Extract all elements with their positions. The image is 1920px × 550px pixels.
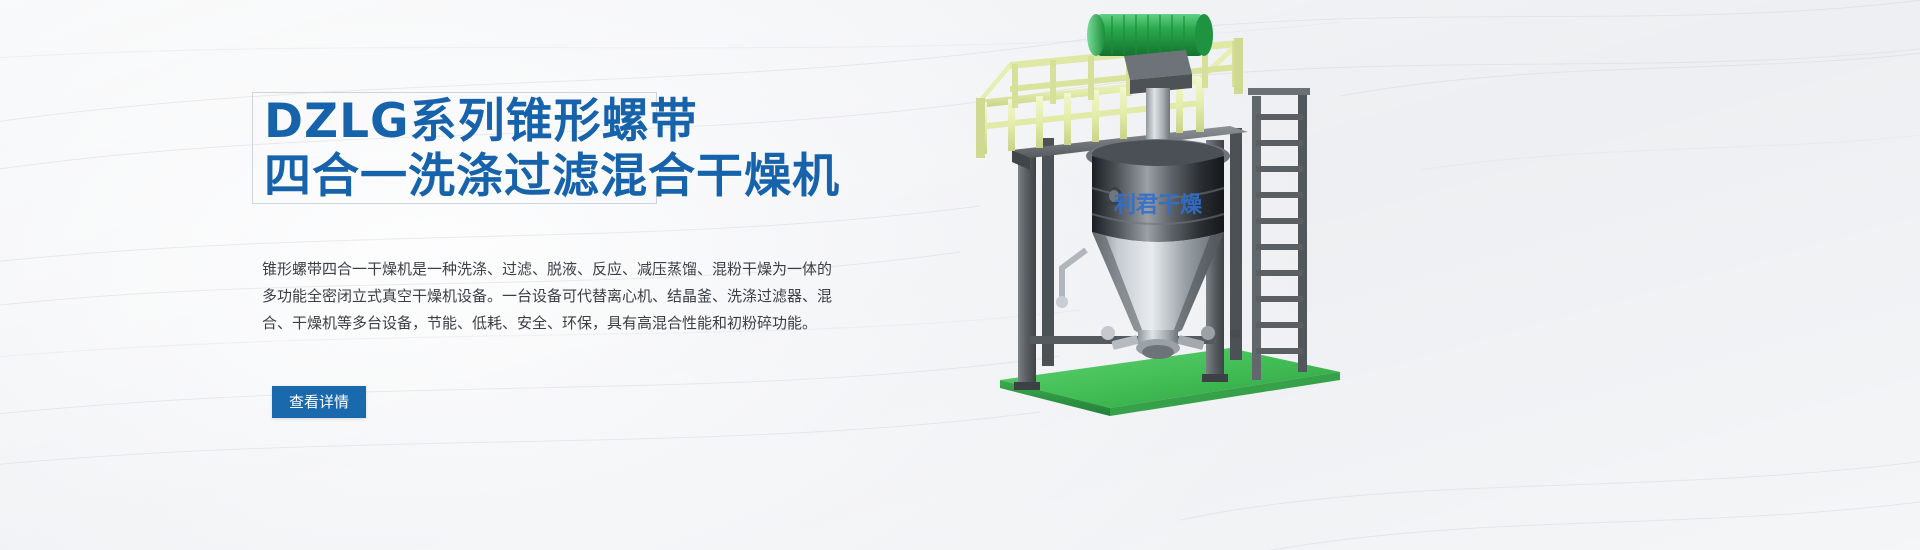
description-line-2: 多功能全密闭立式真空干燥机设备。一台设备可代替离心机、结晶釜、洗涤过滤器、混 — [262, 283, 862, 310]
page-title: DZLG系列锥形螺带 四合一洗涤过滤混合干燥机 — [264, 94, 884, 204]
view-details-button[interactable]: 查看详情 — [272, 386, 366, 418]
product-description: 锥形螺带四合一干燥机是一种洗涤、过滤、脱液、反应、减压蒸馏、混粉干燥为一体的 多… — [262, 256, 862, 337]
hero-banner: DZLG系列锥形螺带 四合一洗涤过滤混合干燥机 锥形螺带四合一干燥机是一种洗涤、… — [0, 0, 1920, 550]
stainless-conical-vessel: 利君干燥 — [1056, 139, 1230, 359]
watermark-text: 利君干燥 — [1114, 193, 1203, 218]
page-title-line-1: DZLG系列锥形螺带 — [264, 94, 884, 149]
hero-content: DZLG系列锥形螺带 四合一洗涤过滤混合干燥机 锥形螺带四合一干燥机是一种洗涤、… — [0, 0, 900, 550]
gray-access-ladder — [1248, 88, 1310, 380]
product-illustration: 利君干燥 — [900, 0, 1920, 550]
page-title-line-2: 四合一洗涤过滤混合干燥机 — [264, 149, 884, 204]
description-line-3: 合、干燥机等多台设备，节能、低耗、安全、环保，具有高混合性能和初粉碎功能。 — [262, 310, 862, 337]
description-line-1: 锥形螺带四合一干燥机是一种洗涤、过滤、脱液、反应、减压蒸馏、混粉干燥为一体的 — [262, 256, 862, 283]
